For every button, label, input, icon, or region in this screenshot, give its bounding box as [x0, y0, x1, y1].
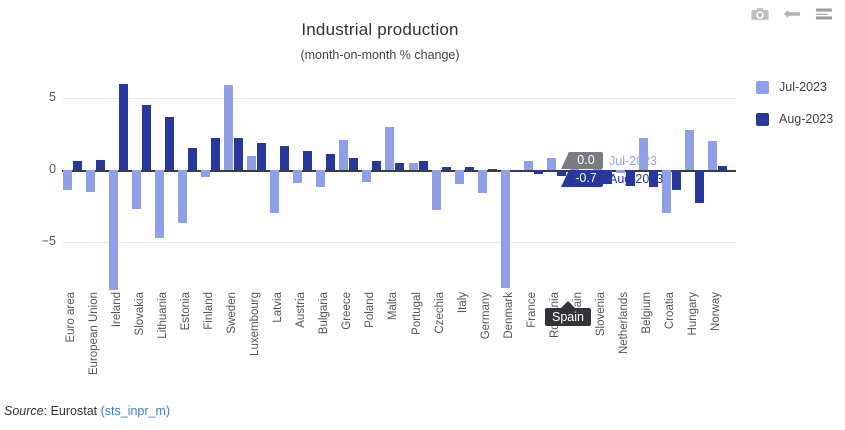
- legend-label-jul: Jul-2023: [779, 80, 827, 94]
- y-tick-label: 5: [36, 90, 56, 104]
- bar-group[interactable]: [361, 90, 384, 290]
- bar-jul[interactable]: [501, 170, 510, 288]
- bar-jul[interactable]: [385, 127, 394, 170]
- y-tick-label: 0: [36, 162, 56, 176]
- bar-group[interactable]: [269, 90, 292, 290]
- bar-aug[interactable]: [303, 151, 312, 170]
- x-axis-label: Latvia: [272, 292, 284, 323]
- category-tooltip: Spain: [545, 308, 591, 326]
- bar-jul[interactable]: [132, 170, 141, 209]
- bar-group[interactable]: [408, 90, 431, 290]
- bar-jul[interactable]: [86, 170, 95, 192]
- legend-item-aug[interactable]: Aug-2023: [756, 112, 833, 126]
- x-axis-label: Euro area: [65, 292, 77, 343]
- x-axis-label: Poland: [364, 292, 376, 328]
- bar-aug[interactable]: [580, 170, 589, 180]
- legend-swatch-jul: [756, 81, 769, 94]
- bar-jul[interactable]: [639, 138, 648, 170]
- bar-group[interactable]: [85, 90, 108, 290]
- bar-jul[interactable]: [432, 170, 441, 210]
- x-axis-label: Hungary: [687, 292, 699, 335]
- bar-aug[interactable]: [718, 166, 727, 170]
- x-axis-labels: Euro areaEuropean UnionIrelandSlovakiaLi…: [62, 292, 756, 387]
- bar-group[interactable]: [500, 90, 523, 290]
- x-axis-label: Greece: [341, 292, 353, 330]
- bar-group[interactable]: [546, 90, 569, 290]
- bar-group[interactable]: [223, 90, 246, 290]
- bar-aug[interactable]: [234, 138, 243, 170]
- source-dataset-link[interactable]: (sts_inpr_m): [101, 404, 170, 418]
- bar-group[interactable]: [523, 90, 546, 290]
- bar-jul[interactable]: [63, 170, 72, 190]
- bar-aug[interactable]: [442, 167, 451, 170]
- bar-aug[interactable]: [257, 143, 266, 170]
- chart-title: Industrial production: [0, 20, 760, 40]
- bar-group[interactable]: [661, 90, 684, 290]
- bar-group[interactable]: [62, 90, 85, 290]
- bar-jul[interactable]: [409, 163, 418, 170]
- bar-jul[interactable]: [270, 170, 279, 213]
- x-axis-label: Lithuania: [157, 292, 169, 339]
- bar-aug[interactable]: [626, 170, 635, 186]
- x-axis-label: Croatia: [664, 292, 676, 329]
- menu-icon[interactable]: [815, 6, 833, 22]
- legend-label-aug: Aug-2023: [779, 112, 833, 126]
- source-prefix: Source: [4, 404, 44, 418]
- collapse-icon[interactable]: [783, 6, 801, 22]
- bar-aug[interactable]: [557, 170, 566, 176]
- bar-jul[interactable]: [247, 156, 256, 170]
- source-separator: :: [44, 404, 51, 418]
- bar-jul[interactable]: [339, 140, 348, 170]
- plot-area: 50−5: [36, 90, 730, 290]
- bar-group[interactable]: [615, 90, 638, 290]
- x-axis-label: Estonia: [180, 292, 192, 330]
- x-axis-label: Slovenia: [595, 292, 607, 336]
- x-axis-label: Luxembourg: [249, 292, 261, 356]
- bar-series-container: [62, 90, 736, 290]
- bar-group[interactable]: [338, 90, 361, 290]
- x-axis-label: European Union: [88, 292, 100, 375]
- bar-aug[interactable]: [142, 105, 151, 170]
- legend-item-jul[interactable]: Jul-2023: [756, 80, 833, 94]
- bar-jul[interactable]: [109, 170, 118, 290]
- y-tick-label: −5: [36, 234, 56, 248]
- x-axis-label: Finland: [203, 292, 215, 330]
- chart-subtitle: (month-on-month % change): [0, 48, 760, 62]
- x-axis-label: Bulgaria: [318, 292, 330, 334]
- bar-jul[interactable]: [455, 170, 464, 184]
- x-axis-label: Sweden: [226, 292, 238, 334]
- bar-jul[interactable]: [593, 156, 602, 170]
- bar-group[interactable]: [592, 90, 615, 290]
- x-axis-label: Malta: [387, 292, 399, 320]
- bar-group[interactable]: [292, 90, 315, 290]
- bar-aug[interactable]: [165, 117, 174, 170]
- x-axis-label: Belgium: [641, 292, 653, 334]
- bar-aug[interactable]: [188, 148, 197, 170]
- bar-group[interactable]: [200, 90, 223, 290]
- bar-aug[interactable]: [372, 161, 381, 170]
- bar-group[interactable]: [431, 90, 454, 290]
- bar-jul[interactable]: [616, 170, 625, 173]
- bar-aug[interactable]: [672, 170, 681, 190]
- bar-jul[interactable]: [155, 170, 164, 238]
- bar-group[interactable]: [177, 90, 200, 290]
- bar-group[interactable]: [638, 90, 661, 290]
- bar-aug[interactable]: [695, 170, 704, 203]
- bar-jul[interactable]: [201, 170, 210, 177]
- bar-jul[interactable]: [685, 130, 694, 170]
- x-axis-label: Czechia: [434, 292, 446, 334]
- bar-aug[interactable]: [280, 146, 289, 170]
- bar-aug[interactable]: [488, 169, 497, 170]
- x-axis-label: Netherlands: [618, 292, 630, 354]
- bar-jul[interactable]: [178, 170, 187, 223]
- bar-aug[interactable]: [73, 161, 82, 170]
- x-axis-label: Austria: [295, 292, 307, 328]
- bar-group[interactable]: [707, 90, 730, 290]
- bar-group[interactable]: [315, 90, 338, 290]
- bar-aug[interactable]: [603, 170, 612, 184]
- bar-group[interactable]: [477, 90, 500, 290]
- chart-canvas: Industrial production (month-on-month % …: [0, 0, 845, 430]
- bar-group[interactable]: [569, 90, 592, 290]
- bar-group[interactable]: [684, 90, 707, 290]
- x-axis-label: France: [526, 292, 538, 328]
- bar-jul[interactable]: [662, 170, 671, 213]
- bar-group[interactable]: [384, 90, 407, 290]
- bar-jul[interactable]: [570, 169, 579, 170]
- x-axis-label: Ireland: [111, 292, 123, 327]
- bar-aug[interactable]: [395, 163, 404, 170]
- bar-group[interactable]: [246, 90, 269, 290]
- bar-aug[interactable]: [96, 160, 105, 170]
- x-axis-label: Portugal: [411, 292, 423, 335]
- bar-jul[interactable]: [478, 170, 487, 193]
- bar-jul[interactable]: [362, 170, 371, 182]
- chart-legend: Jul-2023 Aug-2023: [756, 80, 833, 144]
- bar-group[interactable]: [131, 90, 154, 290]
- legend-swatch-aug: [756, 113, 769, 126]
- bar-aug[interactable]: [119, 84, 128, 170]
- source-note: Source: Eurostat (sts_inpr_m): [4, 404, 170, 418]
- x-axis-label: Slovakia: [134, 292, 146, 335]
- bar-group[interactable]: [154, 90, 177, 290]
- source-provider: Eurostat: [51, 404, 98, 418]
- bar-jul[interactable]: [224, 85, 233, 170]
- x-axis-label: Denmark: [503, 292, 515, 339]
- x-axis-label: Italy: [457, 292, 469, 313]
- bar-jul[interactable]: [708, 141, 717, 170]
- bar-aug[interactable]: [511, 170, 520, 171]
- x-axis-label: Germany: [480, 292, 492, 339]
- chart-toolbar: [751, 6, 833, 22]
- bar-jul[interactable]: [547, 158, 556, 170]
- bar-aug[interactable]: [419, 161, 428, 170]
- bar-jul[interactable]: [316, 170, 325, 187]
- x-axis-label: Norway: [710, 292, 722, 331]
- bar-aug[interactable]: [534, 170, 543, 174]
- bar-aug[interactable]: [211, 138, 220, 170]
- bar-group[interactable]: [108, 90, 131, 290]
- bar-group[interactable]: [454, 90, 477, 290]
- bar-aug[interactable]: [349, 158, 358, 170]
- bar-jul[interactable]: [524, 161, 533, 170]
- bar-aug[interactable]: [649, 170, 658, 187]
- bar-aug[interactable]: [465, 167, 474, 170]
- bar-jul[interactable]: [293, 170, 302, 183]
- bar-aug[interactable]: [326, 154, 335, 170]
